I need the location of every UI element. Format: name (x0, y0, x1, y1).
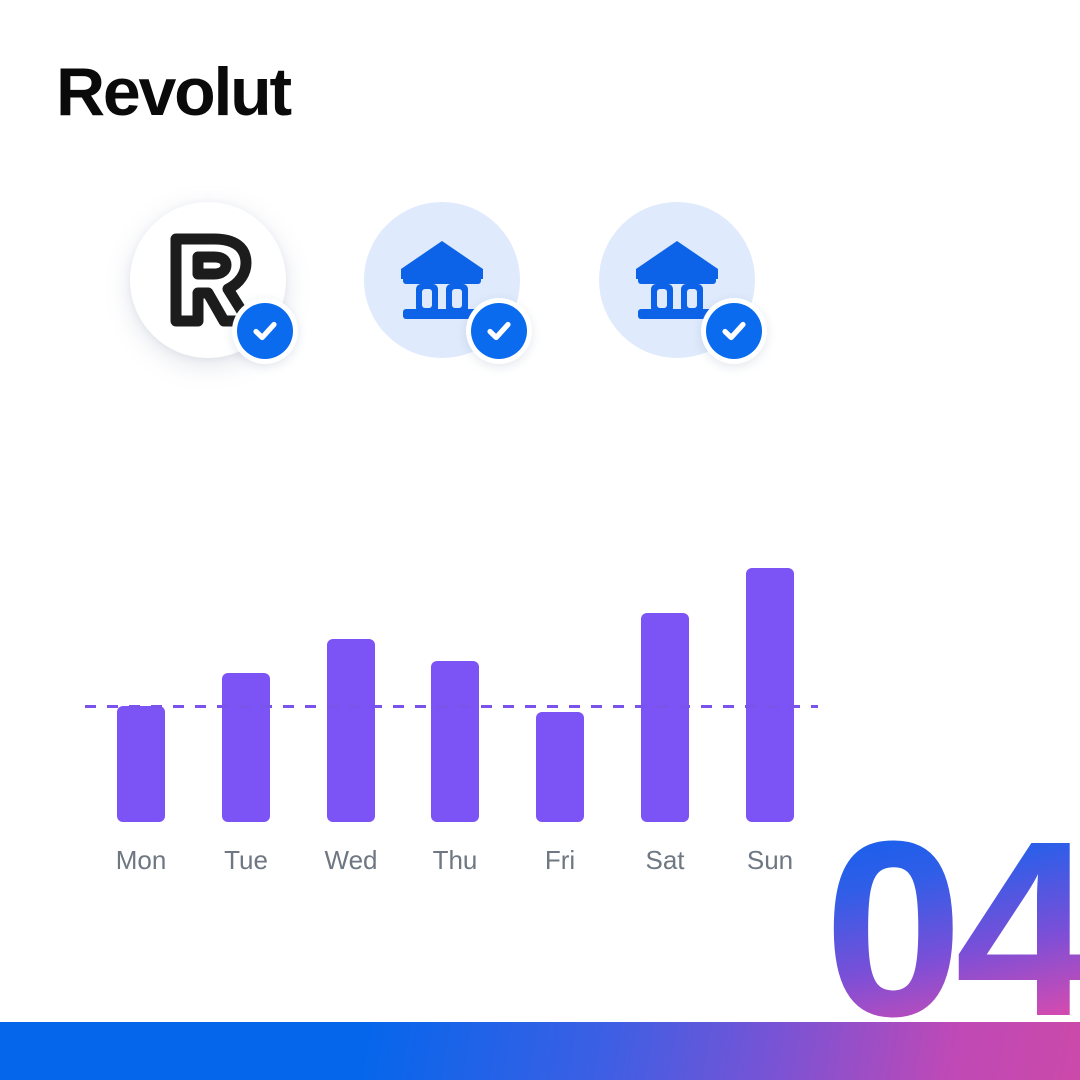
chart-x-label: Thu (402, 843, 508, 877)
chart-reference-line (85, 705, 818, 708)
brand-logo: Revolut (56, 56, 356, 128)
verified-badge-circle (706, 303, 762, 359)
account-chip-bank-1[interactable] (364, 202, 520, 358)
verified-badge (232, 298, 298, 364)
account-chip-revolut[interactable] (130, 202, 286, 358)
chart-x-label: Mon (88, 843, 194, 877)
verified-badge-circle (237, 303, 293, 359)
verified-badge-circle (471, 303, 527, 359)
chart-x-label: Sat (612, 843, 718, 877)
chart-x-label: Tue (193, 843, 299, 877)
check-icon (249, 315, 281, 347)
chart-x-axis: MonTueWedThuFriSatSun (85, 843, 818, 877)
account-chip-bank-2[interactable] (599, 202, 755, 358)
brand-wordmark: Revolut (56, 56, 356, 128)
chart-bar (117, 706, 165, 822)
chart-plot-area (85, 540, 818, 822)
verified-badge (701, 298, 767, 364)
chart-bar (431, 661, 479, 822)
slide-number: 04 (824, 804, 1080, 1054)
check-icon (718, 315, 750, 347)
chart-bar (222, 673, 270, 822)
chart-x-label: Fri (507, 843, 613, 877)
verified-badge (466, 298, 532, 364)
bank-icon (399, 239, 485, 321)
chart-x-label: Sun (717, 843, 823, 877)
chart-bar (327, 639, 375, 822)
chart-x-label: Wed (298, 843, 404, 877)
bank-icon (634, 239, 720, 321)
footer-gradient-bar (0, 1022, 1080, 1080)
connected-accounts-row (0, 202, 1080, 387)
chart-bar (536, 712, 584, 822)
chart-bar (641, 613, 689, 822)
chart-bar (746, 568, 794, 822)
check-icon (483, 315, 515, 347)
